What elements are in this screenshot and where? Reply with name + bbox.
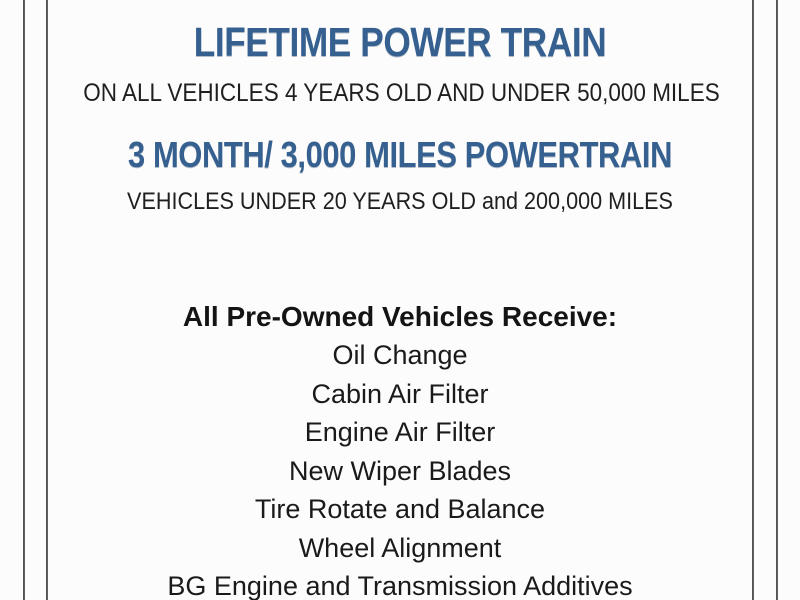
warranty-block-lifetime-powertrain: LIFETIME POWER TRAIN ON ALL VEHICLES 4 Y… [48, 22, 752, 106]
lifetime-powertrain-subhead: ON ALL VEHICLES 4 YEARS OLD AND UNDER 50… [83, 81, 717, 106]
service-list-item: BG Engine and Transmission Additives [48, 567, 752, 600]
warranty-block-three-month-powertrain: 3 MONTH/ 3,000 MILES POWERTRAIN VEHICLES… [48, 137, 752, 214]
service-list-item: Oil Change [48, 336, 752, 375]
right-outer-frame-rule [776, 0, 778, 600]
service-list-item: Engine Air Filter [48, 413, 752, 452]
warranty-flyer-page: LIFETIME POWER TRAIN ON ALL VEHICLES 4 Y… [0, 0, 800, 600]
three-month-powertrain-headline: 3 MONTH/ 3,000 MILES POWERTRAIN [97, 137, 702, 173]
services-list-title: All Pre-Owned Vehicles Receive: [48, 298, 752, 336]
right-inner-frame-rule [752, 0, 754, 600]
lifetime-powertrain-headline: LIFETIME POWER TRAIN [97, 22, 702, 63]
service-list-item: New Wiper Blades [48, 452, 752, 491]
left-outer-frame-rule [23, 0, 25, 600]
service-list-item: Wheel Alignment [48, 529, 752, 568]
services-included-block: All Pre-Owned Vehicles Receive: Oil Chan… [48, 298, 752, 600]
service-list-item: Cabin Air Filter [48, 375, 752, 414]
three-month-powertrain-subhead: VEHICLES UNDER 20 YEARS OLD and 200,000 … [83, 190, 717, 214]
page-content: LIFETIME POWER TRAIN ON ALL VEHICLES 4 Y… [48, 0, 752, 600]
service-list-item: Tire Rotate and Balance [48, 490, 752, 529]
